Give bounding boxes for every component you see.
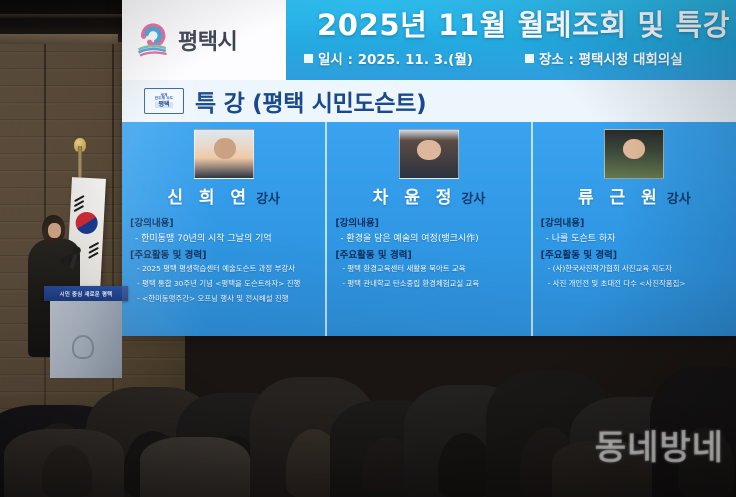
- slide-subtitle: 특 강 (평택 시민도슨트): [195, 84, 426, 118]
- projection-screen: 평택시 2025년 11월 월례조회 및 특강 일시 : 2025. 11. 3…: [122, 0, 736, 336]
- slide-header: 평택시 2025년 11월 월례조회 및 특강 일시 : 2025. 11. 3…: [122, 0, 736, 80]
- speaker-photo-1: [194, 129, 254, 179]
- content-line: - 나를 도슨트 하자: [546, 231, 728, 244]
- career-line: - (사)한국사진작가협회 사진교육 지도자: [548, 263, 728, 274]
- slide-subtitle-bar: 세계 반도체 수도 평택 특 강 (평택 시민도슨트): [122, 80, 736, 122]
- speaker-photo-2: [399, 129, 459, 179]
- bullet-square-icon: [304, 54, 313, 63]
- name-row: 류 근 원 강사: [541, 183, 728, 208]
- career-heading: [주요활동 및 경력]: [541, 247, 728, 261]
- content-heading: [강의내용]: [541, 215, 728, 229]
- presenter-face: [48, 223, 61, 238]
- career-heading: [주요활동 및 경력]: [130, 247, 317, 261]
- career-line: - 평택 환경교육센터 새활용 북아트 교육: [342, 263, 522, 274]
- photo-wrap: [541, 129, 728, 179]
- logo-text: 평택시: [178, 24, 237, 56]
- meta-place-label: 장소 : 평택시청 대회의실: [539, 48, 683, 68]
- speaker-name: 신 희 연: [167, 183, 251, 208]
- speaker-card: 차 윤 정 강사 [강의내용] - 환경을 담은 예술의 여정(뱅크시作) [주…: [325, 122, 530, 336]
- career-line: - 사진 개인전 및 초대전 다수 <사진작품집>: [548, 278, 728, 289]
- title-band: 2025년 11월 월례조회 및 특강 일시 : 2025. 11. 3.(월)…: [286, 0, 736, 80]
- semiconductor-capital-badge: 세계 반도체 수도 평택: [144, 88, 184, 114]
- podium-sign: 시민 중심 새로운 평택: [44, 286, 128, 301]
- slide-meta-row: 일시 : 2025. 11. 3.(월) 장소 : 평택시청 대회의실: [304, 48, 732, 68]
- content-heading: [강의내용]: [130, 215, 317, 229]
- career-line: - <한미동맹주간> 오프닝 행사 및 전시해설 진행: [137, 293, 317, 304]
- photo-wrap: [335, 129, 522, 179]
- seated-audience: [0, 321, 736, 497]
- speaker-name: 차 윤 정: [373, 183, 457, 208]
- speaker-cards: 신 희 연 강사 [강의내용] - 한미동맹 70년의 시작 그날의 기억 [주…: [122, 122, 736, 336]
- audience-shoulders: [140, 437, 250, 497]
- career-line: - 2025 평택 평생학습센터 예술도슨트 과정 부강사: [137, 263, 317, 274]
- speaker-photo-3: [604, 129, 664, 179]
- wall-soffit: [0, 34, 118, 44]
- career-line: - 평택 관내학교 탄소중립 환경체험교실 교육: [342, 278, 522, 289]
- speaker-name: 류 근 원: [578, 183, 662, 208]
- photo-scene: 평택시 2025년 11월 월례조회 및 특강 일시 : 2025. 11. 3…: [0, 0, 736, 497]
- meta-date: 일시 : 2025. 11. 3.(월): [304, 48, 473, 68]
- content-heading: [강의내용]: [335, 215, 522, 229]
- watermark: 동네방네: [595, 420, 724, 469]
- content-line: - 한미동맹 70년의 시작 그날의 기억: [135, 231, 317, 244]
- speaker-role: 강사: [461, 188, 485, 207]
- name-row: 신 희 연 강사: [130, 183, 317, 208]
- content-line: - 환경을 담은 예술의 여정(뱅크시作): [340, 231, 522, 244]
- slide-title: 2025년 11월 월례조회 및 특강: [286, 2, 730, 44]
- meta-date-label: 일시 : 2025. 11. 3.(월): [318, 48, 473, 68]
- pyeongtaek-city-swirl-logo: [136, 23, 172, 57]
- career-line: - 평택 통합 30주년 기념 <평택을 도슨트하자> 진행: [137, 278, 317, 289]
- speaker-card: 신 희 연 강사 [강의내용] - 한미동맹 70년의 시작 그날의 기억 [주…: [122, 122, 325, 336]
- photo-wrap: [130, 129, 317, 179]
- podium-sign-text: 시민 중심 새로운 평택: [60, 290, 113, 298]
- meta-place: 장소 : 평택시청 대회의실: [525, 48, 683, 68]
- bullet-square-icon: [525, 54, 534, 63]
- logo-band: 평택시: [122, 0, 286, 80]
- badge-line3: 평택: [155, 102, 172, 108]
- speaker-role: 강사: [256, 188, 280, 207]
- speaker-card: 류 근 원 강사 [강의내용] - 나를 도슨트 하자 [주요활동 및 경력] …: [531, 122, 736, 336]
- career-heading: [주요활동 및 경력]: [335, 247, 522, 261]
- name-row: 차 윤 정 강사: [335, 183, 522, 208]
- speaker-role: 강사: [667, 188, 691, 207]
